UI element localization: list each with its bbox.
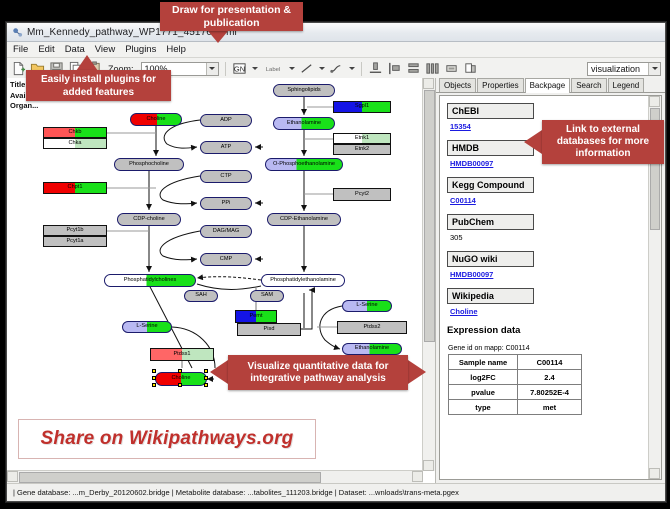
menu-item-file[interactable]: File (12, 44, 29, 55)
table-cell-key: pvalue (449, 385, 518, 400)
metabolite-node[interactable]: Ethanolamine (342, 343, 402, 355)
group-icon[interactable] (444, 61, 459, 76)
backpage-header-pubchem: PubChem (447, 214, 534, 230)
scroll-left-icon[interactable] (7, 471, 18, 482)
gene-id-line: Gene id on mapp: C00114 (448, 345, 650, 352)
selection-handle[interactable] (152, 383, 156, 387)
backpage-scroll-down-icon[interactable] (649, 468, 660, 479)
label-dropdown-icon[interactable] (289, 67, 295, 70)
datanode-icon[interactable]: GN (232, 61, 247, 76)
node-label: CDP-Ethanolamine (280, 217, 328, 223)
callout-plugins-pointer (76, 55, 98, 71)
selection-handle[interactable] (204, 369, 208, 373)
node-label: ADP (220, 118, 232, 124)
metabolite-node[interactable]: PPi (200, 197, 252, 210)
menu-item-plugins[interactable]: Plugins (124, 44, 157, 55)
canvas-vertical-scrollbar[interactable] (422, 78, 435, 471)
metabolite-node[interactable]: DAG/MAG (200, 225, 252, 238)
table-cell-value: 7.80252E-4 (518, 385, 582, 400)
table-row: log2FC2.4 (449, 370, 582, 385)
order-icon[interactable] (463, 61, 478, 76)
node-label: Ethanolamine (355, 346, 389, 352)
gene-product-node[interactable]: Etnk2 (333, 144, 391, 155)
node-label: Ethanolamine (287, 121, 321, 127)
callout-draw: Draw for presentation & publication (160, 2, 303, 31)
tab-legend[interactable]: Legend (608, 78, 645, 92)
gene-product-node[interactable]: Pemt (235, 310, 277, 323)
metabolite-node[interactable]: O-Phosphoethanolamine (265, 158, 343, 171)
backpage-link[interactable]: C00114 (450, 196, 650, 205)
menu-item-edit[interactable]: Edit (37, 44, 55, 55)
metabolite-node[interactable]: Phosphocholine (114, 158, 184, 171)
node-label: L-Serine (356, 303, 377, 309)
menu-item-data[interactable]: Data (64, 44, 86, 55)
table-cell-value: met (518, 400, 582, 415)
canvas-horizontal-scrollbar[interactable] (7, 470, 423, 483)
backpage-header-hmdb: HMDB (447, 140, 534, 156)
callout-link-pointer (524, 130, 542, 154)
gene-product-node[interactable]: Sgpl1 (333, 101, 391, 113)
datanode-dropdown-icon[interactable] (252, 67, 258, 70)
metabolite-node[interactable]: Sphingolipids (273, 84, 335, 97)
backpage-header-chebi: ChEBI (447, 103, 534, 119)
gene-product-node[interactable]: Ptdss2 (337, 321, 407, 334)
tab-properties[interactable]: Properties (477, 78, 523, 92)
backpage-header-kegg-compound: Kegg Compound (447, 177, 534, 193)
scroll-up-icon[interactable] (423, 78, 434, 89)
visualization-value: visualization (591, 64, 640, 74)
node-label: PPi (222, 201, 231, 207)
metabolite-node[interactable]: SAH (184, 290, 218, 302)
table-cell-value: C00114 (518, 355, 582, 370)
line-dropdown-icon[interactable] (319, 67, 325, 70)
metabolite-node[interactable]: SAM (250, 290, 284, 302)
metabolite-node[interactable]: CTP (200, 170, 252, 183)
gene-product-node[interactable]: Etnk1 (333, 133, 391, 144)
label-icon[interactable]: Label (262, 61, 284, 76)
gene-product-node[interactable]: Chka (43, 138, 107, 149)
node-label: Pcyt2 (355, 192, 369, 198)
chevron-down-icon-visualization[interactable] (648, 63, 660, 75)
toolbar-separator-2 (361, 62, 362, 76)
backpage-header-nugo-wiki: NuGO wiki (447, 251, 534, 267)
node-label: Sphingolipids (287, 88, 320, 94)
align-bottom-icon[interactable] (368, 61, 383, 76)
callout-visualize-pointer-left (210, 360, 228, 384)
toolbar-separator (225, 62, 226, 76)
tab-backpage[interactable]: Backpage (525, 78, 571, 93)
svg-text:Label: Label (265, 67, 279, 73)
selection-handle[interactable] (178, 383, 182, 387)
chevron-down-icon[interactable] (206, 63, 218, 75)
node-label: Etnk2 (355, 147, 369, 153)
callout-link-databases: Link to external databases for more info… (542, 120, 664, 164)
node-label: Pemt (249, 314, 262, 320)
backpage-link[interactable]: HMDB00097 (450, 270, 650, 279)
node-label: Chka (68, 141, 81, 147)
gene-product-node[interactable]: Chpt1 (43, 182, 107, 194)
node-label: Etnk1 (355, 136, 369, 142)
selection-handle[interactable] (204, 376, 208, 380)
selection-handle[interactable] (204, 383, 208, 387)
status-bar-text: | Gene database: ...m_Derby_20120602.bri… (7, 488, 459, 497)
metabolite-node[interactable]: L-Serine (122, 321, 172, 333)
line-icon[interactable] (299, 61, 314, 76)
node-label: ATP (221, 145, 231, 151)
callout-visualize-pointer-right (408, 360, 426, 384)
new-file-icon[interactable] (11, 61, 26, 76)
table-row: typemet (449, 400, 582, 415)
gene-product-node[interactable]: Pcyt1a (43, 236, 107, 247)
callout-draw-pointer (208, 31, 228, 43)
backpage-scroll-up-icon[interactable] (649, 96, 660, 107)
node-label: Phosphatidylcholines (124, 278, 177, 284)
metabolite-node[interactable]: Phosphatidylethanolamine (261, 274, 345, 287)
node-label: Chkb (68, 130, 81, 136)
node-label: SAH (195, 293, 207, 299)
connector-dropdown-icon[interactable] (349, 67, 355, 70)
metabolite-node[interactable]: Ethanolamine (273, 117, 335, 130)
node-label: Choline (172, 376, 191, 382)
node-label: Chpt1 (68, 185, 83, 191)
node-label: Phosphatidylethanolamine (270, 278, 336, 284)
menu-item-view[interactable]: View (94, 44, 116, 55)
tab-search[interactable]: Search (571, 78, 606, 92)
selection-handle[interactable] (152, 369, 156, 373)
table-cell-key: Sample name (449, 355, 518, 370)
table-cell-value: 2.4 (518, 370, 582, 385)
metabolite-node[interactable]: ATP (200, 141, 252, 154)
selection-handle[interactable] (178, 369, 182, 373)
backpage-link[interactable]: Choline (450, 307, 650, 316)
metabolite-node[interactable]: ADP (200, 114, 252, 127)
expression-data-title: Expression data (447, 325, 650, 336)
distribute-horizontal-icon[interactable] (425, 61, 440, 76)
node-label: Phosphocholine (129, 162, 169, 168)
node-label: O-Phosphoethanolamine (273, 162, 335, 168)
side-panel-tabs: ObjectsPropertiesBackpageSearchLegend (436, 78, 665, 93)
menu-bar: File Edit Data View Plugins Help (7, 42, 665, 58)
metabolite-node[interactable]: Phosphatidylcholines (104, 274, 196, 287)
gene-product-node[interactable]: Ptdss1 (150, 348, 214, 361)
node-label: Sgpl1 (355, 104, 369, 110)
node-label: Choline (147, 117, 166, 123)
node-label: SAM (261, 293, 273, 299)
stack-vertical-icon[interactable] (406, 61, 421, 76)
node-label: DAG/MAG (213, 229, 239, 235)
metabolite-node[interactable]: Choline (130, 113, 182, 126)
node-label: CDP-choline (133, 217, 164, 223)
gene-product-node[interactable]: Chkb (43, 127, 107, 138)
expression-data-table: Sample nameC00114log2FC2.4pvalue7.80252E… (448, 354, 582, 415)
visualization-combobox[interactable]: visualization (587, 62, 661, 76)
node-label: CTP (220, 174, 231, 180)
metabolite-node[interactable]: CMP (200, 253, 252, 266)
callout-share-text: Share on Wikipathways.org (41, 428, 294, 450)
gene-product-node[interactable]: Pcyt2 (333, 188, 391, 201)
table-cell-key: log2FC (449, 370, 518, 385)
node-label: Ptdss1 (173, 352, 190, 358)
backpage-value: 305 (450, 233, 650, 242)
screenshot-root: Mm_Kennedy_pathway_WP1771_45176.gpml Fil… (0, 0, 670, 509)
node-label: Pcyt1a (66, 239, 83, 245)
table-row: pvalue7.80252E-4 (449, 385, 582, 400)
gene-product-node[interactable]: Pisd (237, 323, 301, 336)
hscroll-thumb[interactable] (19, 472, 321, 483)
callout-plugins: Easily install plugins for added feature… (26, 70, 171, 101)
gene-product-node[interactable]: Pcyt1b (43, 225, 107, 236)
node-label: Ptdss2 (363, 325, 380, 331)
align-left-icon[interactable] (387, 61, 402, 76)
table-row: Sample nameC00114 (449, 355, 582, 370)
svg-text:GN: GN (233, 64, 244, 73)
window-title-bar: Mm_Kennedy_pathway_WP1771_45176.gpml (7, 23, 665, 42)
metabolite-node[interactable]: CDP-choline (117, 213, 181, 226)
node-label: Pcyt1b (66, 228, 83, 234)
scroll-down-icon[interactable] (423, 460, 434, 471)
callout-share-wikipathways: Share on Wikipathways.org (18, 419, 316, 459)
table-cell-key: type (449, 400, 518, 415)
status-bar: | Gene database: ...m_Derby_20120602.bri… (7, 483, 665, 501)
node-label: L-Serine (136, 324, 157, 330)
vscroll-thumb[interactable] (424, 90, 435, 342)
menu-item-help[interactable]: Help (165, 44, 187, 55)
node-label: Pisd (264, 327, 275, 333)
tab-objects[interactable]: Objects (439, 78, 476, 92)
node-label: CMP (220, 257, 232, 263)
pathvisio-app-icon (12, 27, 23, 38)
callout-visualize: Visualize quantitative data for integrat… (228, 355, 408, 390)
backpage-header-wikipedia: Wikipedia (447, 288, 534, 304)
metabolite-node[interactable]: L-Serine (342, 300, 392, 312)
selection-handle[interactable] (152, 376, 156, 380)
connector-icon[interactable] (329, 61, 344, 76)
scroll-right-icon[interactable] (412, 471, 423, 482)
metabolite-node[interactable]: CDP-Ethanolamine (267, 213, 341, 226)
canvas-info-organism: Organ... (10, 101, 38, 112)
